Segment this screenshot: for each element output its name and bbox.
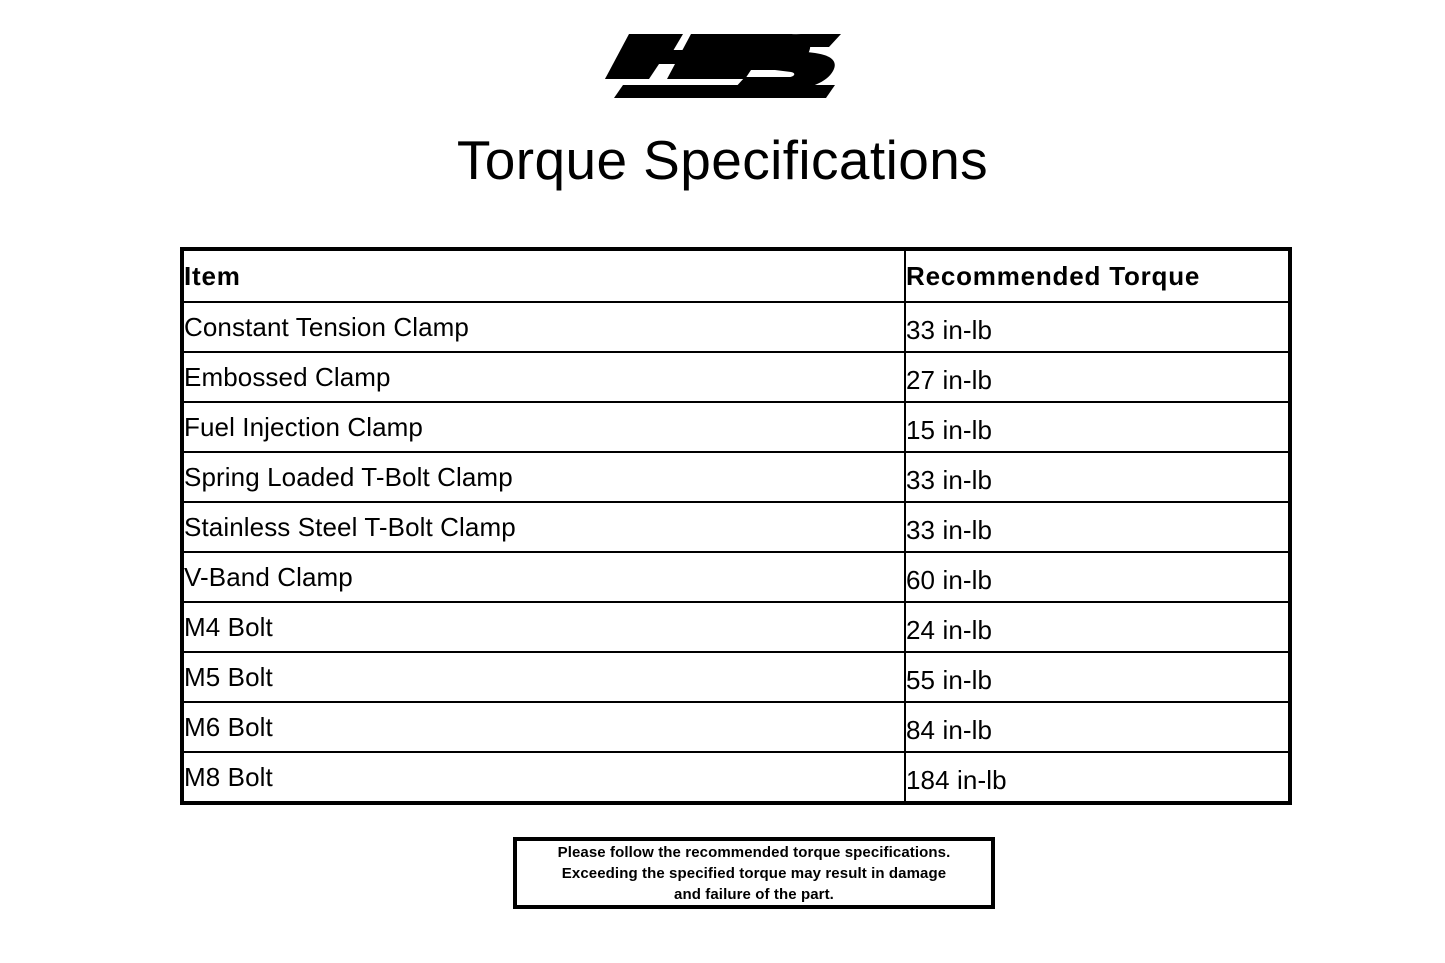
warning-note-box: Please follow the recommended torque spe… (513, 837, 995, 909)
table-row: Constant Tension Clamp 33 in-lb (182, 302, 1290, 352)
table-row: Stainless Steel T-Bolt Clamp 33 in-lb (182, 502, 1290, 552)
cell-torque: 184 in-lb (905, 752, 1290, 803)
brand-logo (0, 32, 1445, 112)
cell-torque: 33 in-lb (905, 502, 1290, 552)
table-row: Fuel Injection Clamp 15 in-lb (182, 402, 1290, 452)
cell-torque: 84 in-lb (905, 702, 1290, 752)
table-row: Spring Loaded T-Bolt Clamp 33 in-lb (182, 452, 1290, 502)
cell-torque: 33 in-lb (905, 302, 1290, 352)
hps-wordmark-logo (605, 32, 841, 100)
note-line-2: Exceeding the specified torque may resul… (562, 863, 946, 884)
table-header: Item Recommended Torque (182, 249, 1290, 302)
torque-specifications-table: Item Recommended Torque Constant Tension… (180, 247, 1292, 805)
table-row: M8 Bolt 184 in-lb (182, 752, 1290, 803)
torque-value: 33 in-lb (906, 515, 992, 546)
torque-value: 55 in-lb (906, 665, 992, 696)
torque-value: 15 in-lb (906, 415, 992, 446)
torque-value: 84 in-lb (906, 715, 992, 746)
table-row: Embossed Clamp 27 in-lb (182, 352, 1290, 402)
table-body: Constant Tension Clamp 33 in-lb Embossed… (182, 302, 1290, 803)
cell-torque: 24 in-lb (905, 602, 1290, 652)
torque-value: 33 in-lb (906, 465, 992, 496)
torque-value: 24 in-lb (906, 615, 992, 646)
cell-item: Embossed Clamp (182, 352, 905, 402)
cell-torque: 55 in-lb (905, 652, 1290, 702)
table-row: M4 Bolt 24 in-lb (182, 602, 1290, 652)
note-line-3: and failure of the part. (674, 884, 834, 905)
cell-item: V-Band Clamp (182, 552, 905, 602)
cell-item: M5 Bolt (182, 652, 905, 702)
cell-item: M8 Bolt (182, 752, 905, 803)
cell-item: Constant Tension Clamp (182, 302, 905, 352)
cell-torque: 15 in-lb (905, 402, 1290, 452)
column-header-recommended-torque: Recommended Torque (905, 249, 1290, 302)
table-header-row: Item Recommended Torque (182, 249, 1290, 302)
cell-item: Spring Loaded T-Bolt Clamp (182, 452, 905, 502)
column-header-item: Item (182, 249, 905, 302)
torque-value: 27 in-lb (906, 365, 992, 396)
cell-item: Stainless Steel T-Bolt Clamp (182, 502, 905, 552)
table-row: V-Band Clamp 60 in-lb (182, 552, 1290, 602)
table-row: M5 Bolt 55 in-lb (182, 652, 1290, 702)
torque-value: 33 in-lb (906, 315, 992, 346)
cell-torque: 60 in-lb (905, 552, 1290, 602)
cell-torque: 27 in-lb (905, 352, 1290, 402)
page-title: Torque Specifications (0, 129, 1445, 191)
cell-item: Fuel Injection Clamp (182, 402, 905, 452)
table-row: M6 Bolt 84 in-lb (182, 702, 1290, 752)
cell-item: M4 Bolt (182, 602, 905, 652)
note-line-1: Please follow the recommended torque spe… (558, 842, 951, 863)
cell-item: M6 Bolt (182, 702, 905, 752)
torque-value: 60 in-lb (906, 565, 992, 596)
cell-torque: 33 in-lb (905, 452, 1290, 502)
torque-value: 184 in-lb (906, 765, 1007, 796)
